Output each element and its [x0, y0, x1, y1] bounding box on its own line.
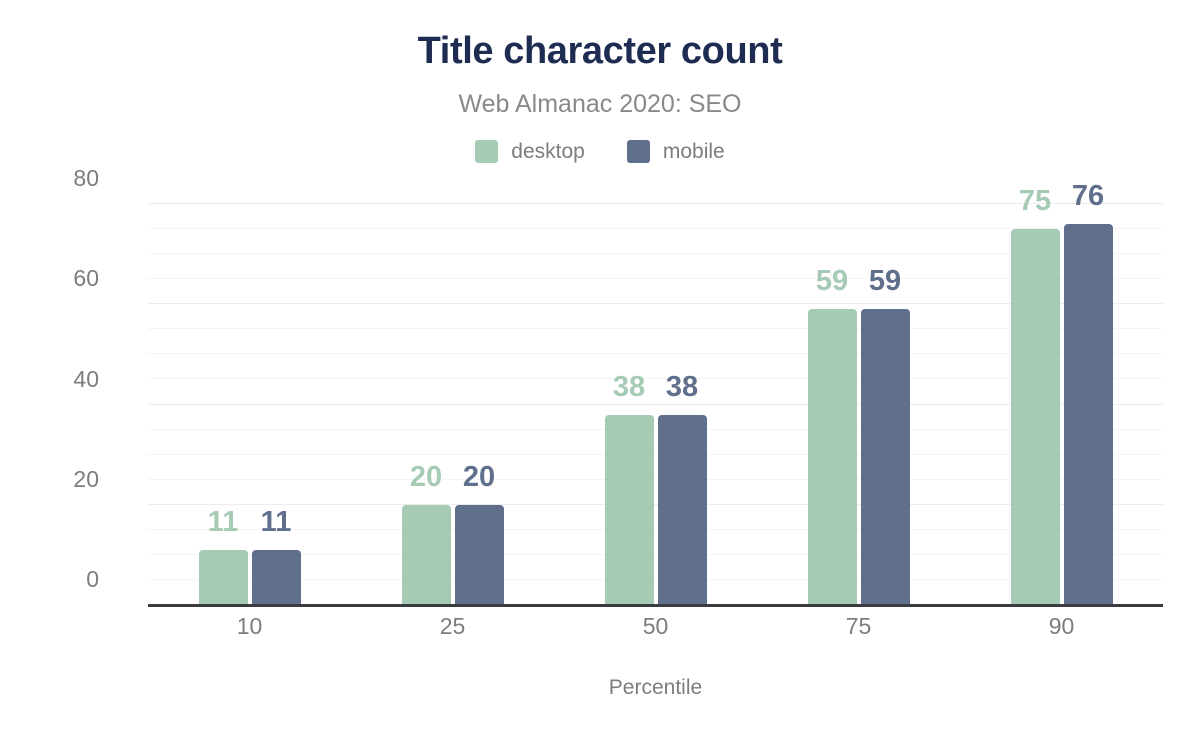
bar-mobile-75[interactable]: 59: [861, 309, 910, 605]
bar-value-label: 76: [1072, 181, 1104, 211]
plot-area: 020406080 11112020383859597576: [148, 204, 1163, 605]
bar-value-label: 20: [463, 462, 495, 492]
chart-title: Title character count: [0, 27, 1200, 75]
x-axis-line: [148, 604, 1163, 607]
bar-value-label: 38: [613, 372, 645, 402]
bar-value-label: 59: [816, 266, 848, 296]
bar-desktop-50[interactable]: 38: [605, 415, 654, 605]
bar-group: 3838: [554, 204, 757, 605]
legend-label-mobile: mobile: [663, 140, 725, 163]
x-axis-title: Percentile: [148, 676, 1163, 700]
bar-value-label: 11: [208, 507, 239, 537]
x-axis-ticks: 1025507590: [148, 612, 1163, 640]
bar-desktop-75[interactable]: 59: [808, 309, 857, 605]
x-axis-tick-label: 10: [148, 612, 351, 640]
bar-desktop-10[interactable]: 11: [199, 550, 248, 605]
bar-value-label: 75: [1019, 186, 1051, 216]
legend-swatch-mobile: [627, 140, 650, 163]
bar-value-label: 20: [410, 462, 442, 492]
x-axis-tick-label: 75: [757, 612, 960, 640]
bar-desktop-25[interactable]: 20: [402, 505, 451, 605]
x-axis-tick-label: 50: [554, 612, 757, 640]
x-axis-tick-label: 25: [351, 612, 554, 640]
chart-subtitle: Web Almanac 2020: SEO: [0, 88, 1200, 120]
legend-item-mobile[interactable]: mobile: [627, 140, 725, 163]
y-axis-tick-label: 20: [39, 466, 99, 492]
bar-group: 1111: [148, 204, 351, 605]
bar-group: 7576: [960, 204, 1163, 605]
chart-legend: desktop mobile: [0, 140, 1200, 163]
bar-value-label: 11: [261, 507, 292, 537]
y-axis-tick-label: 80: [39, 165, 99, 191]
bar-group: 2020: [351, 204, 554, 605]
bar-desktop-90[interactable]: 75: [1011, 229, 1060, 605]
bar-mobile-25[interactable]: 20: [455, 505, 504, 605]
bar-mobile-10[interactable]: 11: [252, 550, 301, 605]
bar-mobile-50[interactable]: 38: [658, 415, 707, 605]
x-axis-tick-label: 90: [960, 612, 1163, 640]
y-axis-tick-label: 60: [39, 265, 99, 291]
bar-value-label: 59: [869, 266, 901, 296]
legend-label-desktop: desktop: [511, 140, 585, 163]
bar-value-label: 38: [666, 372, 698, 402]
bar-group: 5959: [757, 204, 960, 605]
legend-swatch-desktop: [475, 140, 498, 163]
bars-layer: 11112020383859597576: [148, 204, 1163, 605]
legend-item-desktop[interactable]: desktop: [475, 140, 585, 163]
bar-chart: Title character count Web Almanac 2020: …: [0, 0, 1200, 742]
y-axis-tick-label: 40: [39, 366, 99, 392]
y-axis-tick-label: 0: [39, 566, 99, 592]
bar-mobile-90[interactable]: 76: [1064, 224, 1113, 605]
